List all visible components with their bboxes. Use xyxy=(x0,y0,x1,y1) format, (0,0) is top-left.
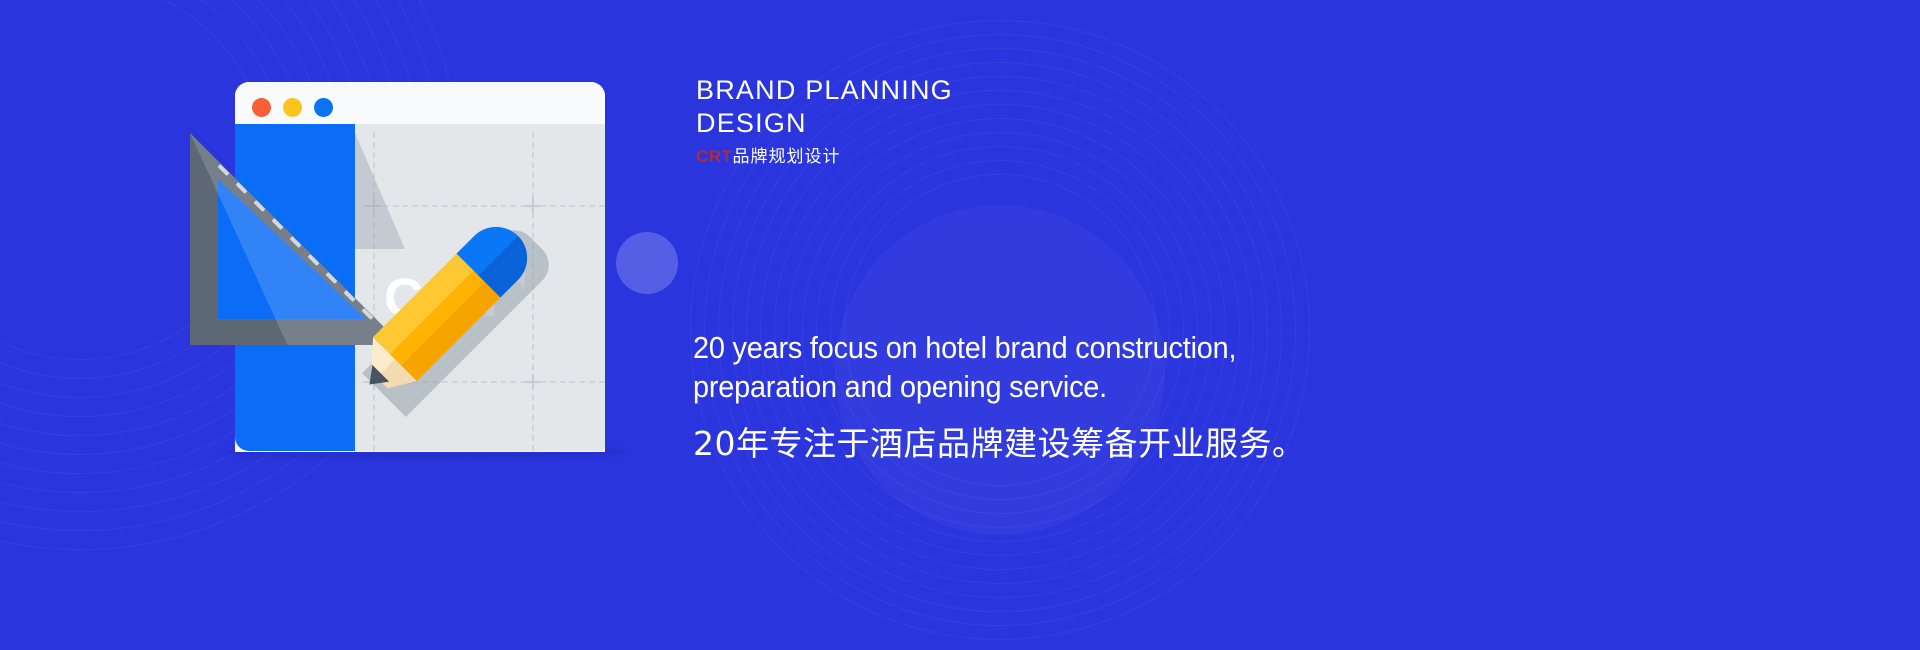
tagline-chinese: 20年专注于酒店品牌建设筹备开业服务。 xyxy=(693,423,1393,464)
headline-subtitle-cn: 品牌规划设计 xyxy=(732,147,840,166)
guide-crosshair-2 xyxy=(525,198,540,213)
hero-illustration: CRT xyxy=(0,0,720,650)
pencil-cap-glow xyxy=(616,232,678,294)
tagline-english-line-2: preparation and opening service. xyxy=(693,367,1344,406)
headline-subtitle: CRT品牌规划设计 xyxy=(696,146,1256,168)
triangle-ruler xyxy=(190,133,402,345)
maximize-dot-icon[interactable] xyxy=(314,98,333,117)
close-dot-icon[interactable] xyxy=(252,98,271,117)
headline-block: BRAND PLANNING DESIGN CRT品牌规划设计 xyxy=(696,74,1256,168)
promo-banner: CRT xyxy=(0,0,1920,650)
headline-line-2: DESIGN xyxy=(696,107,1256,140)
tagline-block: 20 years focus on hotel brand constructi… xyxy=(693,328,1393,464)
headline-line-1: BRAND PLANNING xyxy=(696,74,1256,107)
headline-brand-crt: CRT xyxy=(696,147,732,166)
tagline-english-line-1: 20 years focus on hotel brand constructi… xyxy=(693,328,1344,367)
minimize-dot-icon[interactable] xyxy=(283,98,302,117)
guide-crosshair-4 xyxy=(525,374,540,389)
